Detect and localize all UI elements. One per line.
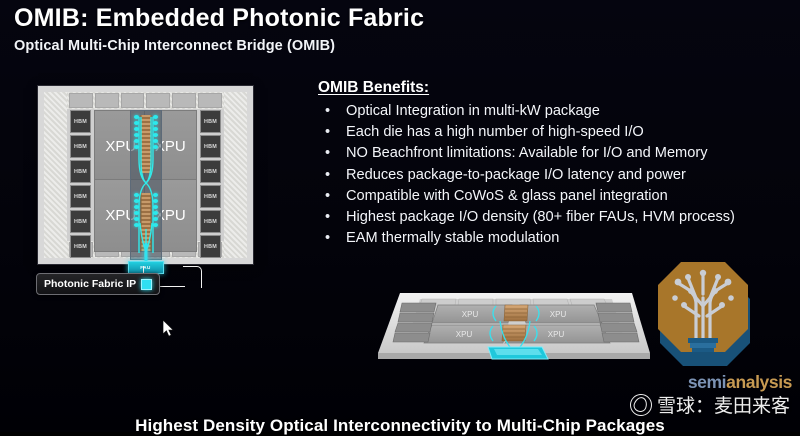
package-3d-render: XPU XPU XPU XPU xyxy=(360,285,650,367)
hbm-module: HBM xyxy=(70,160,91,183)
pad xyxy=(121,93,145,108)
photonic-chip-icon xyxy=(141,279,152,290)
xueqiu-watermark: 雪球：麦田来客 xyxy=(630,391,790,418)
list-item: •NO Beachfront limitations: Available fo… xyxy=(318,143,788,164)
wordmark-analysis: analysis xyxy=(726,372,792,392)
bullet-icon: • xyxy=(325,186,330,207)
bullet-icon: • xyxy=(325,101,330,122)
photonic-fabric-ip-callout[interactable]: Photonic Fabric IP xyxy=(36,273,160,295)
bullet-icon: • xyxy=(325,143,330,164)
hbm-module: HBM xyxy=(70,135,91,158)
svg-text:XPU: XPU xyxy=(462,310,479,319)
bullet-icon: • xyxy=(325,165,330,186)
svg-text:XPU: XPU xyxy=(548,330,565,339)
hbm-module: HBM xyxy=(200,235,221,258)
package-substrate: HBM HBM HBM HBM HBM HBM HBM HBM HBM HBM … xyxy=(44,92,247,258)
slide-canvas: OMIB: Embedded Photonic Fabric Optical M… xyxy=(0,0,800,432)
svg-text:XPU: XPU xyxy=(550,310,567,319)
benefits-list: •Optical Integration in multi-kW package… xyxy=(318,101,788,249)
list-item: •Optical Integration in multi-kW package xyxy=(318,101,788,122)
pad xyxy=(69,93,93,108)
hbm-module: HBM xyxy=(200,135,221,158)
pad xyxy=(95,93,119,108)
list-item: •Compatible with CoWoS & glass panel int… xyxy=(318,186,788,207)
substrate-texture-left xyxy=(44,92,67,258)
photonic-fabric-bridge xyxy=(130,110,162,260)
benefits-heading: OMIB Benefits: xyxy=(318,79,788,97)
hbm-stack-right: HBM HBM HBM HBM HBM HBM xyxy=(200,110,221,258)
callout-connector-corner xyxy=(183,266,202,288)
substrate-texture-right xyxy=(224,92,247,258)
svg-text:XPU: XPU xyxy=(456,330,473,339)
optical-coupler-dots xyxy=(153,115,158,149)
optical-coupler-dots xyxy=(134,115,139,149)
bullet-icon: • xyxy=(325,122,330,143)
optical-coupler-dots xyxy=(134,193,139,227)
hbm-module: HBM xyxy=(70,110,91,133)
list-item: •Reduces package-to-package I/O latency … xyxy=(318,165,788,186)
page-subtitle: Optical Multi-Chip Interconnect Bridge (… xyxy=(14,38,335,54)
list-item-label: NO Beachfront limitations: Available for… xyxy=(346,145,708,161)
list-item-label: Highest package I/O density (80+ fiber F… xyxy=(346,209,735,225)
bullet-icon: • xyxy=(325,228,330,249)
list-item-label: Compatible with CoWoS & glass panel inte… xyxy=(346,188,668,204)
list-item-label: Optical Integration in multi-kW package xyxy=(346,103,600,119)
xueqiu-logo-icon xyxy=(630,394,652,416)
hbm-module: HBM xyxy=(70,235,91,258)
list-item: •Highest package I/O density (80+ fiber … xyxy=(318,207,788,228)
optical-coupler-dots xyxy=(153,193,158,227)
semianalysis-wordmark: semianalysis xyxy=(688,372,792,393)
callout-label: Photonic Fabric IP xyxy=(44,278,136,290)
semianalysis-octagon-logo xyxy=(650,258,756,370)
hbm-module: HBM xyxy=(200,160,221,183)
pad xyxy=(172,93,196,108)
list-item: •Each die has a high number of high-spee… xyxy=(318,122,788,143)
hbm-module: HBM xyxy=(200,185,221,208)
package-topdown-diagram: HBM HBM HBM HBM HBM HBM HBM HBM HBM HBM … xyxy=(38,86,253,264)
list-item-label: Each die has a high number of high-speed… xyxy=(346,124,644,140)
hbm-module: HBM xyxy=(70,210,91,233)
fiber-attach-stem xyxy=(144,243,147,263)
pad xyxy=(198,93,222,108)
list-item-label: Reduces package-to-package I/O latency a… xyxy=(346,167,686,183)
hbm-module: HBM xyxy=(200,110,221,133)
watermark-text: 雪球：麦田来客 xyxy=(657,391,790,418)
wordmark-semi: semi xyxy=(688,372,726,392)
list-item: •EAM thermally stable modulation xyxy=(318,228,788,249)
hbm-stack-left: HBM HBM HBM HBM HBM HBM xyxy=(70,110,91,258)
mouse-pointer-icon xyxy=(163,320,175,338)
list-item-label: EAM thermally stable modulation xyxy=(346,230,559,246)
slide-caption: Highest Density Optical Interconnectivit… xyxy=(0,416,800,436)
bullet-icon: • xyxy=(325,207,330,228)
hbm-module: HBM xyxy=(70,185,91,208)
hbm-module: HBM xyxy=(200,210,221,233)
pad-row-top xyxy=(69,93,222,108)
page-title: OMIB: Embedded Photonic Fabric xyxy=(14,4,424,33)
pad xyxy=(146,93,170,108)
benefits-panel: OMIB Benefits: •Optical Integration in m… xyxy=(318,79,788,249)
